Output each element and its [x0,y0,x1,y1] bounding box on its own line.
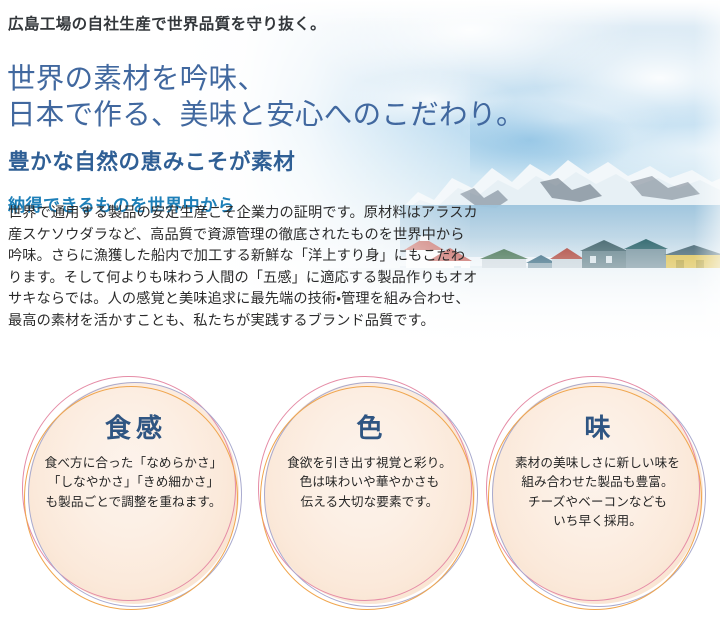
headline-line-1: 世界の素材を吟味、 [7,63,266,95]
section-title: 豊かな自然の恵みこそが素材 [8,145,295,176]
circle-content: 食感 食べ方に合った「なめらかさ」 「しなやかさ」「きめ細かさ」 も製品ごとで調… [28,382,239,604]
circle-body-line: 食欲を引き出す視覚と彩り。 [270,454,470,473]
circle-title: 食感 [100,414,167,444]
circle-body-line: チーズやベーコンなども [498,493,698,512]
circle-body: 素材の美味しさに新しい味を 組み合わせた製品も豊富。 チーズやベーコンなども い… [498,454,698,532]
circle-content: 味 素材の美味しさに新しい味を 組み合わせた製品も豊富。 チーズやベーコンなども… [492,382,703,604]
feature-circle-aji: 味 素材の美味しさに新しい味を 組み合わせた製品も豊富。 チーズやベーコンなども… [480,372,712,612]
circle-body-line: 色は味わいや華やかさも [270,473,470,492]
circle-body: 食べ方に合った「なめらかさ」 「しなやかさ」「きめ細かさ」 も製品ごとで調整を重… [34,454,234,512]
circle-content: 色 食欲を引き出す視覚と彩り。 色は味わいや華やかさも 伝える大切な要素です。 [264,382,475,604]
circle-body-line: 素材の美味しさに新しい味を [498,454,698,473]
photo-right-fade-mask [694,0,720,366]
circle-body: 食欲を引き出す視覚と彩り。 色は味わいや華やかさも 伝える大切な要素です。 [270,454,470,512]
circle-body-line: 伝える大切な要素です。 [270,493,470,512]
circle-body-line: も製品ごとで調整を重ねます。 [34,493,234,512]
feature-circle-shokkan: 食感 食べ方に合った「なめらかさ」 「しなやかさ」「きめ細かさ」 も製品ごとで調… [16,372,248,612]
page-headline: 世界の素材を吟味、 日本で作る、美味と安心へのこだわり。 [7,61,525,133]
circle-body-line: 「しなやかさ」「きめ細かさ」 [34,473,234,492]
article-paragraph: 世界で通用する製品の安定生産こそ企業力の証明です。原材料はアラスカ産スケソウダラ… [8,203,478,333]
circle-body-line: 食べ方に合った「なめらかさ」 [34,454,234,473]
eyebrow-tagline: 広島工場の自社生産で世界品質を守り抜く。 [8,12,326,34]
headline-line-2: 日本で作る、美味と安心へのこだわり。 [7,97,525,133]
circle-title: 味 [579,414,615,444]
circle-body-line: 組み合わせた製品も豊富。 [498,473,698,492]
article-body: 世界で通用する製品の安定生産こそ企業力の証明です。原材料はアラスカ産スケソウダラ… [8,203,478,333]
feature-circles-row: 食感 食べ方に合った「なめらかさ」 「しなやかさ」「きめ細かさ」 も製品ごとで調… [0,372,720,621]
circle-body-line: いち早く採用。 [498,512,698,531]
circle-title: 色 [351,414,387,444]
feature-circle-iro: 色 食欲を引き出す視覚と彩り。 色は味わいや華やかさも 伝える大切な要素です。 [252,372,484,612]
